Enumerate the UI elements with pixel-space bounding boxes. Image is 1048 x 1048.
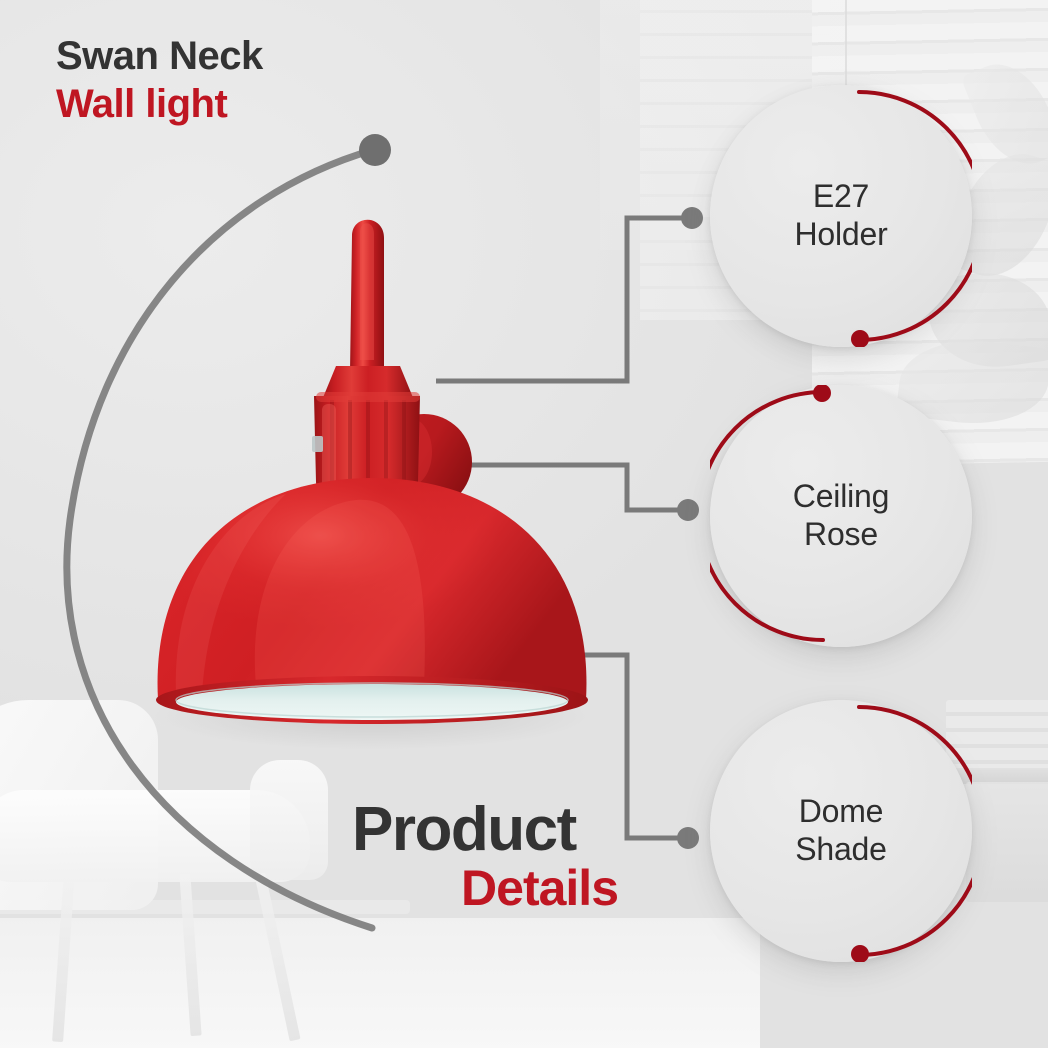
floor xyxy=(0,918,760,1048)
product-infographic: Swan Neck Wall light Product Details E27… xyxy=(0,0,1048,1048)
page-title: Swan Neck Wall light xyxy=(56,36,263,126)
callout-badge-e27-holder[interactable]: E27 Holder xyxy=(710,85,972,347)
callout-badge-ceiling-rose[interactable]: Ceiling Rose xyxy=(710,385,972,647)
title-line-1: Swan Neck xyxy=(56,36,263,76)
callout-label: Dome Shade xyxy=(795,793,887,869)
footer-line-2: Details xyxy=(352,863,618,913)
chair-armrest xyxy=(250,760,328,880)
callout-label: Ceiling Rose xyxy=(793,478,889,554)
footer-line-1: Product xyxy=(352,800,618,861)
wall-seam xyxy=(845,0,847,86)
side-table-body xyxy=(966,782,1048,902)
title-line-2: Wall light xyxy=(56,82,263,126)
footer-title: Product Details xyxy=(352,800,618,913)
callout-label: E27 Holder xyxy=(794,178,887,254)
callout-badge-dome-shade[interactable]: Dome Shade xyxy=(710,700,972,962)
